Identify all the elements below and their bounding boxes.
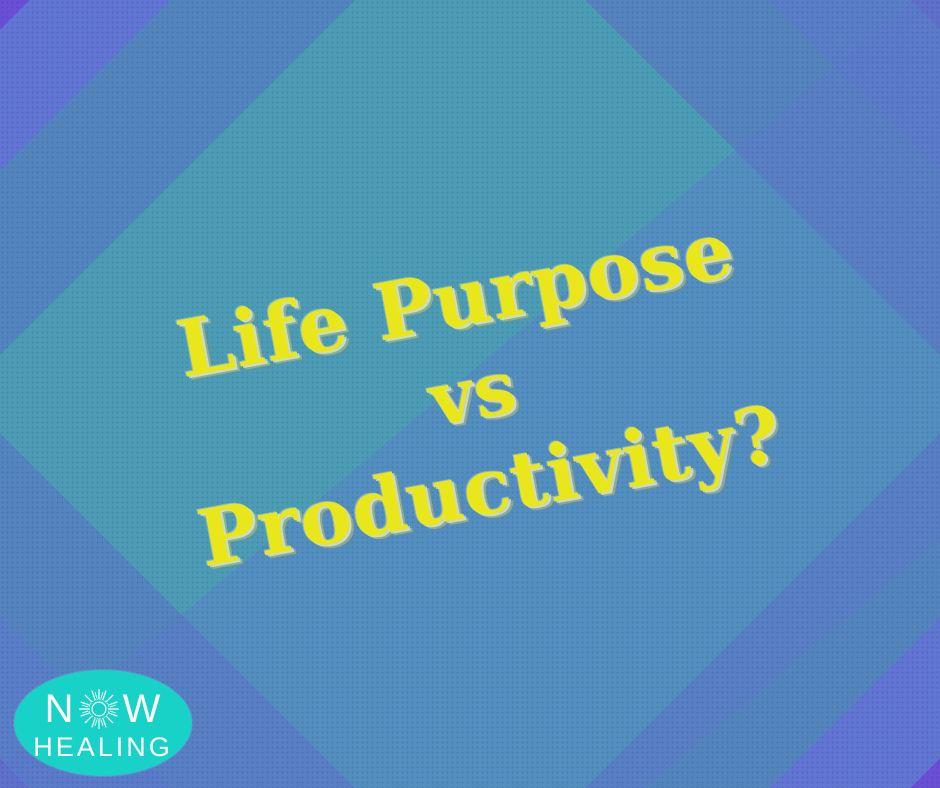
sunburst-icon <box>76 686 122 732</box>
logo-letter-w: W <box>123 689 162 729</box>
headline-line-2: vs <box>405 341 542 449</box>
logo-tagline: HEALING <box>33 734 173 761</box>
logo-wordmark-now: N <box>45 686 162 732</box>
logo-letter-n: N <box>45 689 75 729</box>
graphic-canvas: Life Purpose vs Productivity? N <box>0 0 940 788</box>
headline-block: Life Purpose vs Productivity? <box>0 0 940 788</box>
brand-logo[interactable]: N <box>14 670 192 776</box>
